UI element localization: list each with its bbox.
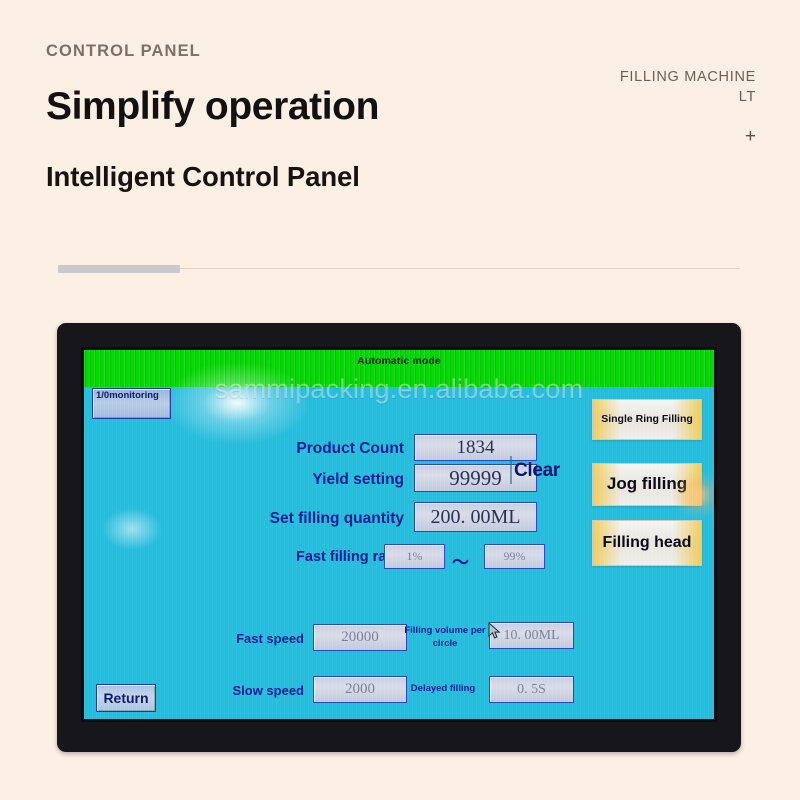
field-fast-filling-ratio-min[interactable]: 1% (384, 544, 445, 569)
screen-titlebar: Automatic mode (84, 350, 714, 387)
field-slow-speed[interactable]: 2000 (313, 676, 407, 703)
label-filling-volume-per-circle: Filling volume per circle (402, 625, 488, 651)
label-fast-speed: Fast speed (194, 632, 304, 646)
brand-model: LT (620, 88, 756, 108)
clear-button[interactable]: Clear (514, 460, 560, 482)
eyebrow-text: CONTROL PANEL (46, 42, 756, 61)
divider (58, 264, 740, 274)
field-filling-volume-per-circle[interactable]: 10. 00ML (489, 622, 574, 649)
range-separator: ～ (452, 548, 469, 573)
io-monitoring-button[interactable]: 1/0 monitoring (92, 388, 171, 419)
page-subtitle: Intelligent Control Panel (46, 163, 756, 191)
field-product-count[interactable]: 1834 (414, 434, 537, 461)
clear-divider (510, 456, 512, 484)
return-button[interactable]: Return (96, 684, 156, 712)
filling-head-button[interactable]: Filling head (592, 520, 702, 566)
hmi-device: Automatic mode sammipacking.en.alibaba.c… (57, 323, 741, 752)
plus-icon: + (620, 124, 756, 150)
label-yield-setting: Yield setting (224, 471, 404, 488)
label-set-filling-quantity: Set filling quantity (204, 510, 404, 527)
brand-name: FILLING MACHINE (620, 68, 756, 88)
label-product-count: Product Count (224, 440, 404, 457)
field-set-filling-quantity[interactable]: 200. 00ML (414, 502, 537, 532)
field-fast-filling-ratio-max[interactable]: 99% (484, 544, 545, 569)
single-ring-filling-button[interactable]: Single Ring Filling (592, 399, 702, 440)
field-delayed-filling[interactable]: 0. 5S (489, 676, 574, 703)
mode-label: Automatic mode (84, 355, 714, 367)
io-monitoring-line2: monitoring (109, 391, 159, 401)
label-delayed-filling: Delayed filling (398, 684, 488, 694)
hmi-bezel: Automatic mode sammipacking.en.alibaba.c… (81, 347, 717, 722)
brand-block: FILLING MACHINE LT + (620, 68, 756, 150)
io-monitoring-line1: 1/0 (96, 391, 109, 401)
label-slow-speed: Slow speed (194, 684, 304, 698)
divider-accent (58, 265, 180, 273)
screen-glare-left (102, 508, 162, 550)
hmi-screen: Automatic mode sammipacking.en.alibaba.c… (84, 350, 714, 719)
label-fast-filling-ratio: Fast filling ratio (214, 550, 404, 566)
jog-filling-button[interactable]: Jog filling (592, 463, 702, 506)
field-fast-speed[interactable]: 20000 (313, 624, 407, 651)
